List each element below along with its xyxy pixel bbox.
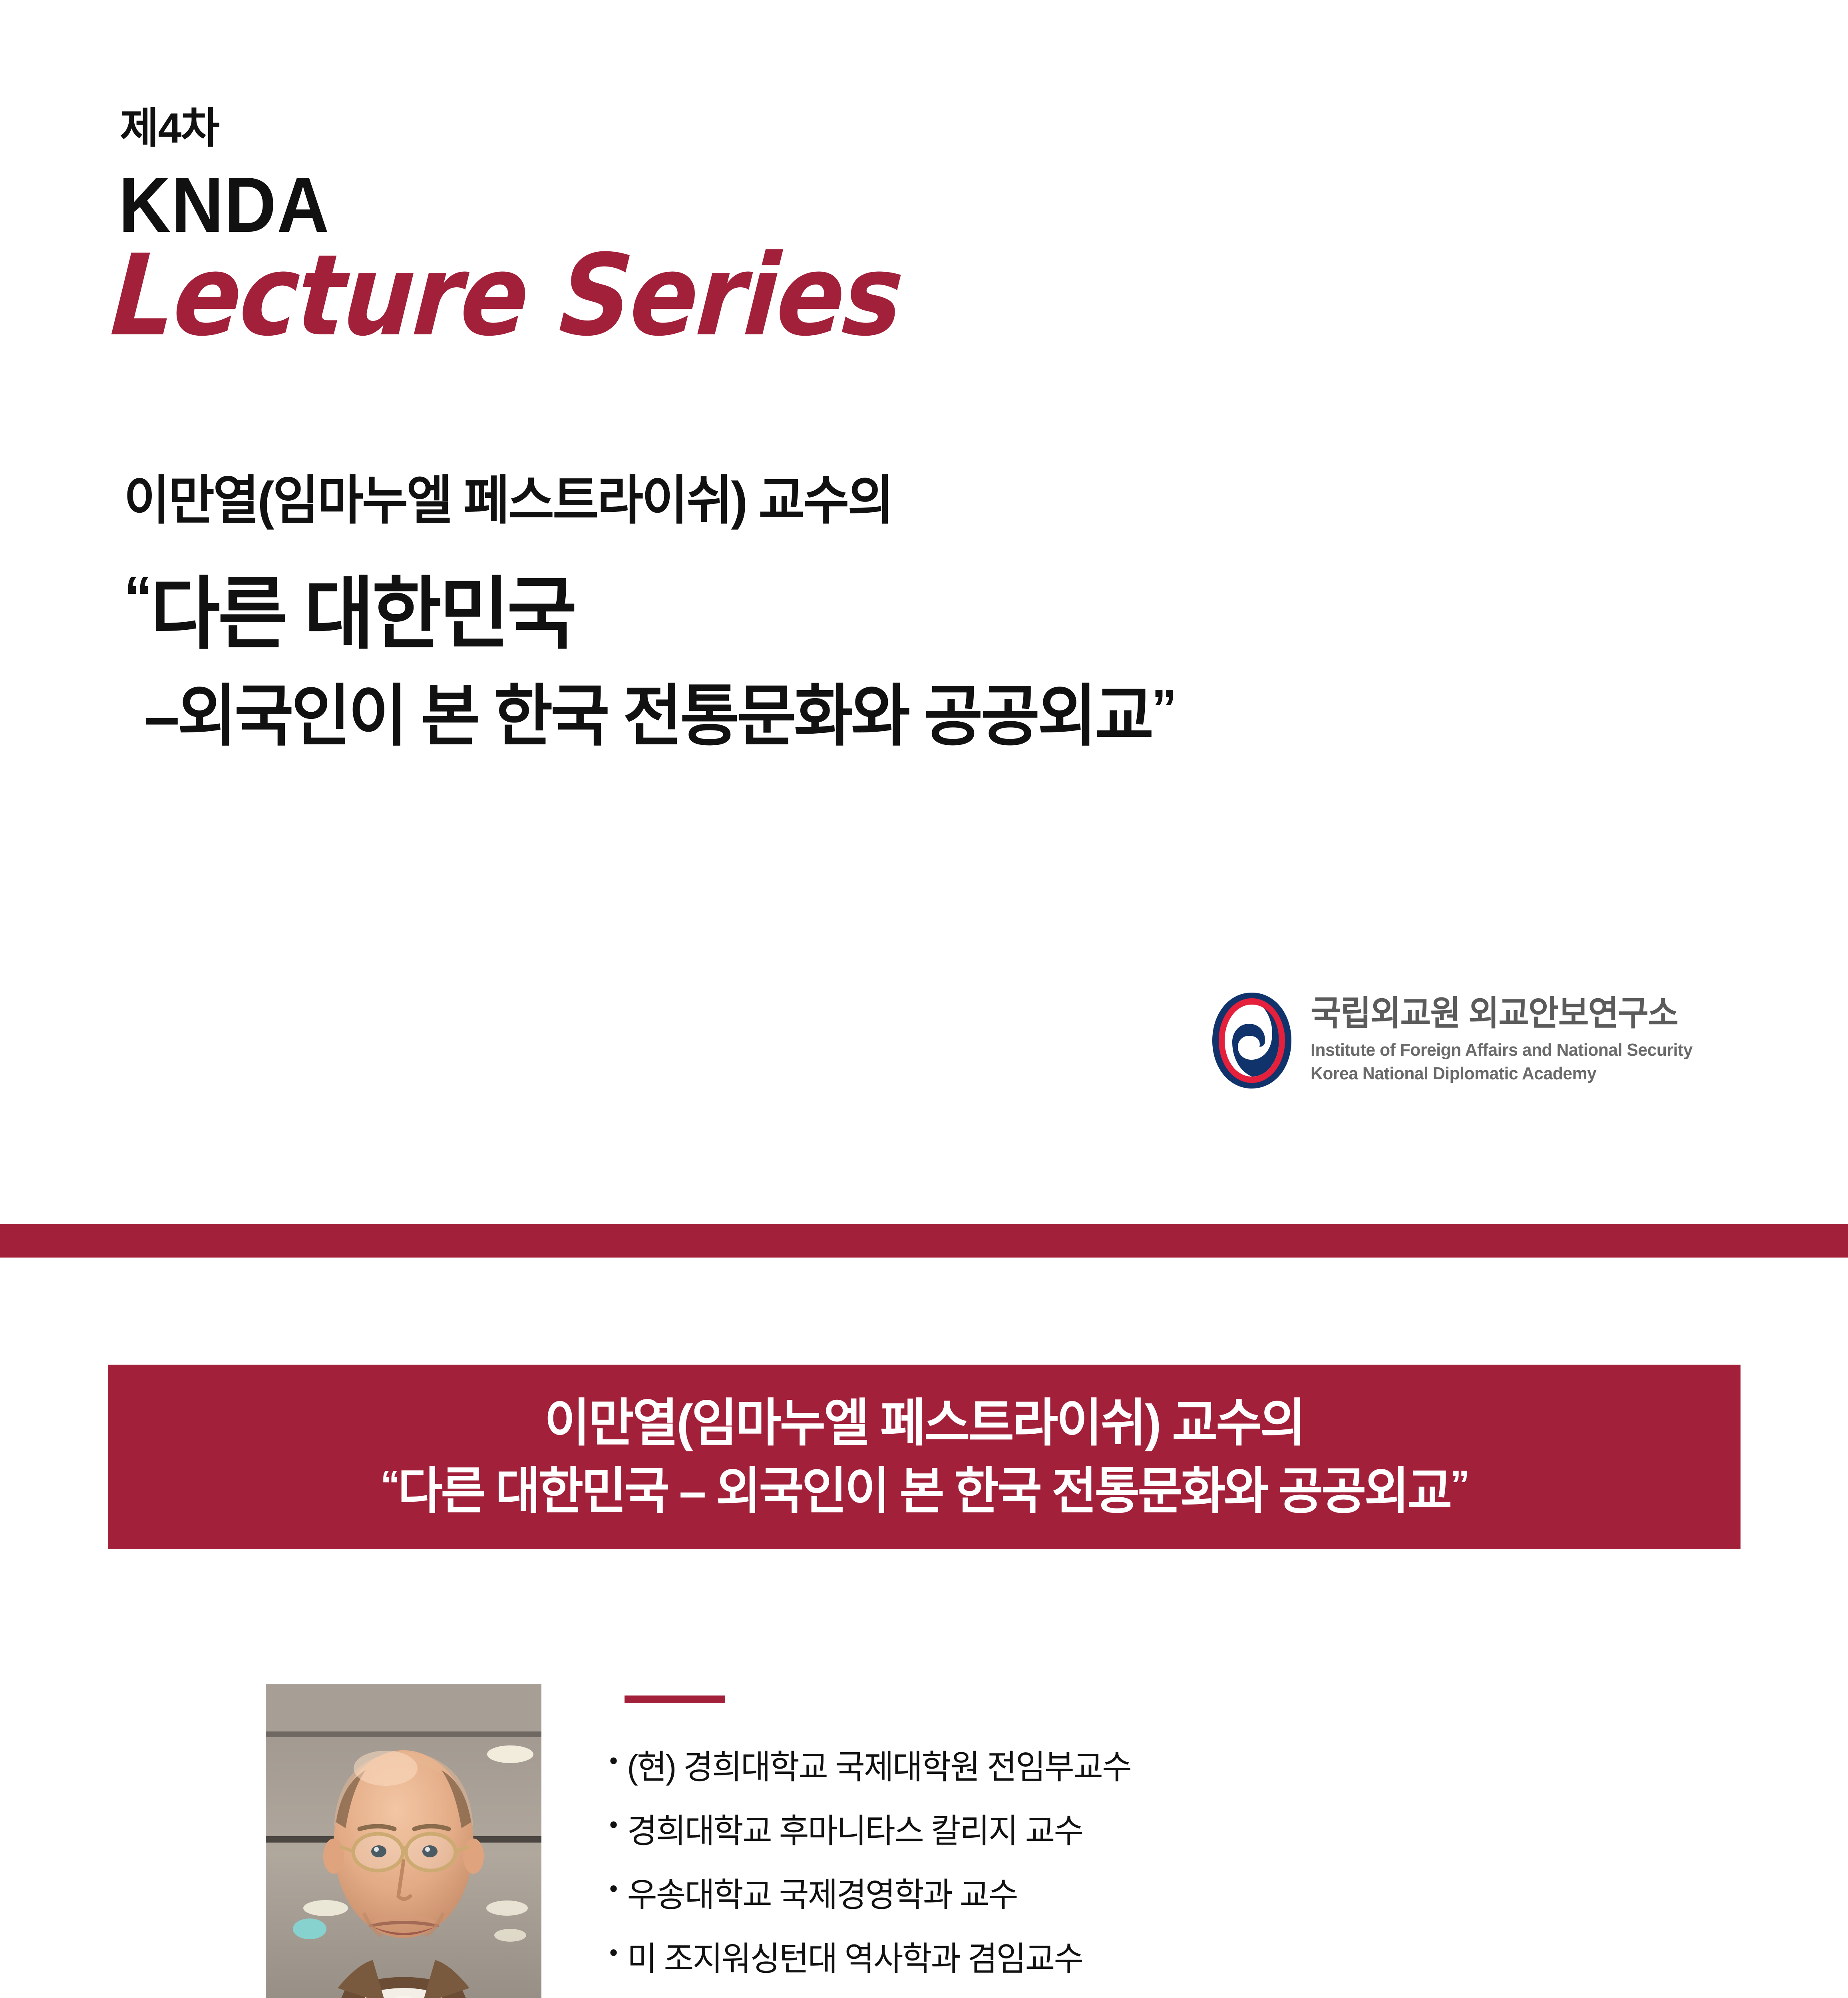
header-kicker: 제4차 bbox=[120, 107, 219, 149]
bio-item: 경희대학교 후마니타스 칼리지 교수 bbox=[609, 1814, 1656, 1848]
bio-item: (현) 경희대학교 국제대학원 전임부교수 bbox=[609, 1750, 1656, 1784]
logo-english-name-1: Institute of Foreign Affairs and Nationa… bbox=[1311, 1038, 1693, 1062]
open-quote-mark: “ bbox=[124, 564, 150, 631]
header-series-title: Lecture Series bbox=[108, 240, 905, 352]
lecture-title-banner: 이만열(임마누엘 페스트라이쉬) 교수의 “다른 대한민국 – 외국인이 본 한… bbox=[108, 1365, 1741, 1549]
speaker-portrait-photo bbox=[266, 1684, 541, 1998]
logo-text-block: 국립외교원 외교안보연구소 Institute of Foreign Affai… bbox=[1311, 995, 1704, 1085]
speaker-bio-list: (현) 경희대학교 국제대학원 전임부교수 경희대학교 후마니타스 칼리지 교수… bbox=[609, 1750, 1688, 1998]
bio-top-rule bbox=[625, 1696, 725, 1703]
bio-item: 우송대학교 국제경영학과 교수 bbox=[609, 1878, 1656, 1912]
poster-root: 제4차 KNDA Lecture Series 이만열(임마누엘 페스트라이쉬)… bbox=[0, 0, 1848, 1998]
logo-english-name-2: Korea National Diplomatic Academy bbox=[1311, 1062, 1693, 1085]
logo-korean-name: 국립외교원 외교안보연구소 bbox=[1311, 995, 1693, 1031]
title-main-line: “다른 대한민국 bbox=[124, 567, 575, 661]
banner-open-quote: “ bbox=[380, 1463, 398, 1507]
banner-title-text: 다른 대한민국 – 외국인이 본 한국 전통문화와 공공외교 bbox=[398, 1463, 1450, 1519]
banner-title-line: “다른 대한민국 – 외국인이 본 한국 전통문화와 공공외교” bbox=[380, 1461, 1468, 1521]
title-speaker-line: 이만열(임마누엘 페스트라이쉬) 교수의 bbox=[124, 472, 892, 529]
title-sub-text: –외국인이 본 한국 전통문화와 공공외교 bbox=[144, 679, 1152, 754]
title-main-text: 다른 대한민국 bbox=[150, 570, 575, 658]
banner-close-quote: ” bbox=[1450, 1463, 1468, 1507]
institution-logo: 국립외교원 외교안보연구소 Institute of Foreign Affai… bbox=[1207, 991, 1704, 1090]
banner-speaker-line: 이만열(임마누엘 페스트라이쉬) 교수의 bbox=[544, 1393, 1304, 1454]
section-divider-bar bbox=[0, 1224, 1848, 1258]
bio-item: 미 조지워싱턴대 역사학과 겸임교수 bbox=[609, 1942, 1656, 1976]
korea-government-taegeuk-emblem-icon bbox=[1207, 991, 1297, 1090]
title-sub-line: –외국인이 본 한국 전통문화와 공공외교” bbox=[144, 679, 1175, 753]
close-quote-mark: ” bbox=[1152, 679, 1175, 738]
